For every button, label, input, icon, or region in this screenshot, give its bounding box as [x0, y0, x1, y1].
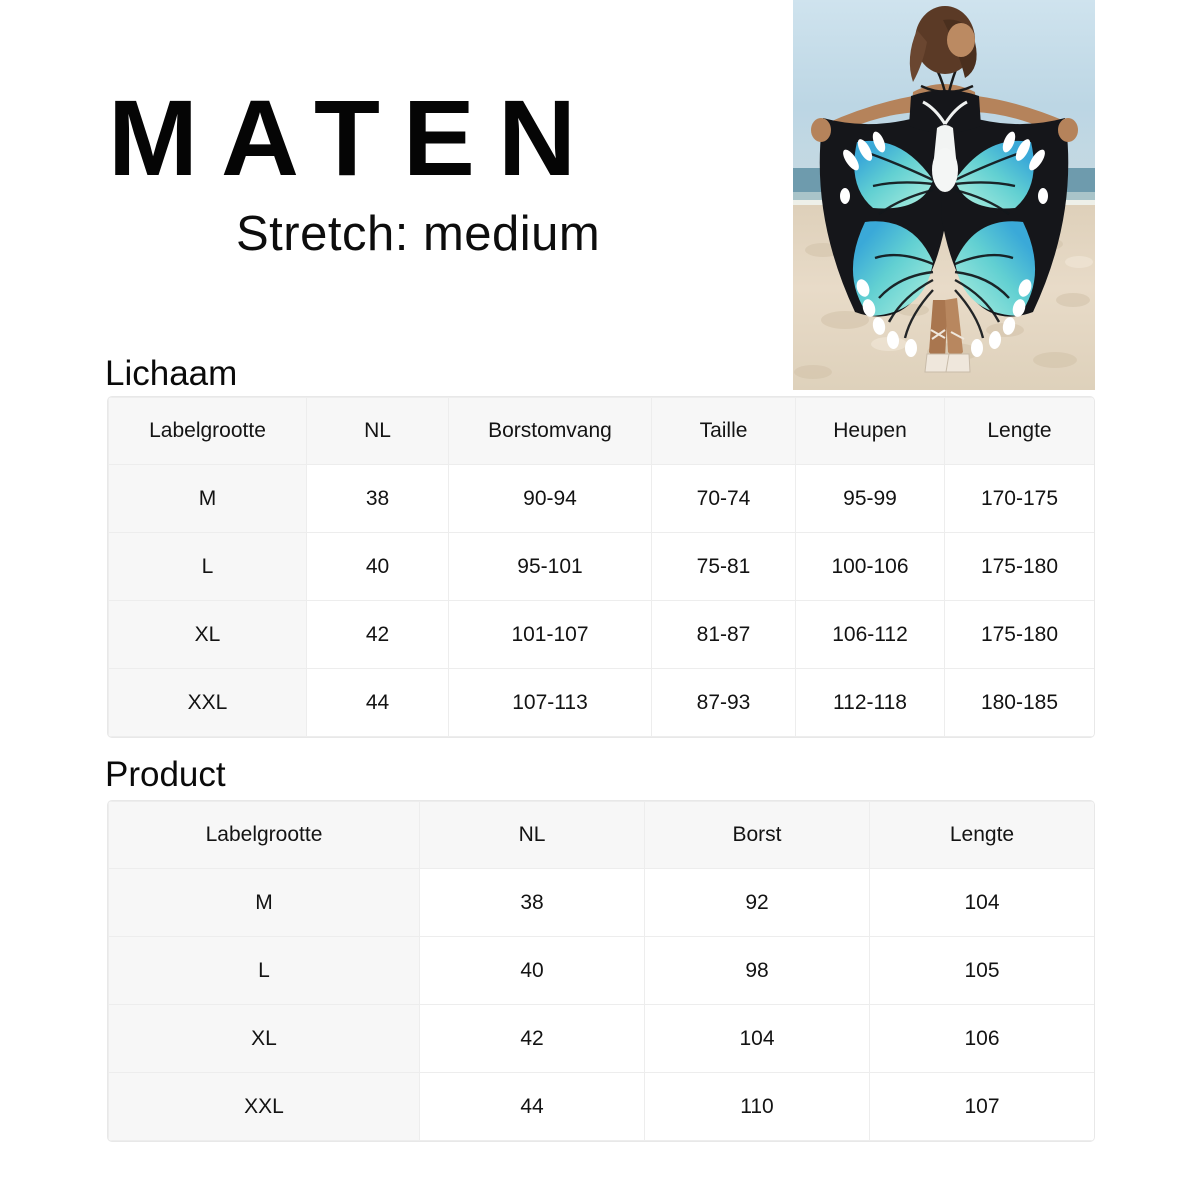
table-header-row: Labelgrootte NL Borst Lengte: [109, 802, 1095, 869]
body-table-head: Labelgrootte NL Borstomvang Taille Heupe…: [109, 398, 1095, 465]
cell-borst: 104: [645, 1005, 870, 1073]
column-header-nl: NL: [420, 802, 645, 869]
table-row: XL 42 101-107 81-87 106-112 175-180: [109, 601, 1095, 669]
cell-size-label: XXL: [109, 1073, 420, 1141]
body-size-table-wrapper: Labelgrootte NL Borstomvang Taille Heupe…: [107, 396, 1095, 738]
cell-taille: 87-93: [652, 669, 796, 737]
column-header-borst: Borst: [645, 802, 870, 869]
table-row: XL 42 104 106: [109, 1005, 1095, 1073]
cell-lengte: 180-185: [945, 669, 1095, 737]
cell-heupen: 106-112: [796, 601, 945, 669]
cell-borstomvang: 107-113: [449, 669, 652, 737]
product-size-table-wrapper: Labelgrootte NL Borst Lengte M 38 92 104…: [107, 800, 1095, 1142]
cell-size-label: L: [109, 937, 420, 1005]
cell-nl: 44: [307, 669, 449, 737]
cell-size-label: L: [109, 533, 307, 601]
cell-lengte: 107: [870, 1073, 1095, 1141]
cell-borstomvang: 95-101: [449, 533, 652, 601]
cell-nl: 40: [307, 533, 449, 601]
body-size-table: Labelgrootte NL Borstomvang Taille Heupe…: [108, 397, 1095, 737]
cell-nl: 44: [420, 1073, 645, 1141]
cell-size-label: M: [109, 465, 307, 533]
cell-taille: 81-87: [652, 601, 796, 669]
stretch-subtitle: Stretch: medium: [236, 208, 600, 262]
cell-lengte: 175-180: [945, 533, 1095, 601]
column-header-lengte: Lengte: [870, 802, 1095, 869]
column-header-labelgrootte: Labelgrootte: [109, 398, 307, 465]
cell-lengte: 104: [870, 869, 1095, 937]
section-heading-product: Product: [105, 757, 226, 792]
cell-borst: 92: [645, 869, 870, 937]
cell-nl: 40: [420, 937, 645, 1005]
cell-heupen: 112-118: [796, 669, 945, 737]
cell-taille: 70-74: [652, 465, 796, 533]
table-row: XXL 44 110 107: [109, 1073, 1095, 1141]
table-row: M 38 90-94 70-74 95-99 170-175: [109, 465, 1095, 533]
body-table-body: M 38 90-94 70-74 95-99 170-175 L 40 95-1…: [109, 465, 1095, 737]
section-heading-body: Lichaam: [105, 356, 237, 391]
header-block: MATEN Stretch: medium: [0, 0, 790, 330]
cell-nl: 42: [420, 1005, 645, 1073]
cell-borst: 110: [645, 1073, 870, 1141]
cell-borstomvang: 101-107: [449, 601, 652, 669]
cell-heupen: 95-99: [796, 465, 945, 533]
butterfly-coverup-illustration: [793, 0, 1095, 390]
table-row: L 40 95-101 75-81 100-106 175-180: [109, 533, 1095, 601]
cell-nl: 38: [420, 869, 645, 937]
cell-size-label: XXL: [109, 669, 307, 737]
cell-nl: 42: [307, 601, 449, 669]
product-photo: [793, 0, 1095, 390]
product-size-table: Labelgrootte NL Borst Lengte M 38 92 104…: [108, 801, 1095, 1141]
column-header-heupen: Heupen: [796, 398, 945, 465]
table-row: L 40 98 105: [109, 937, 1095, 1005]
cell-lengte: 175-180: [945, 601, 1095, 669]
cell-lengte: 106: [870, 1005, 1095, 1073]
column-header-nl: NL: [307, 398, 449, 465]
table-row: XXL 44 107-113 87-93 112-118 180-185: [109, 669, 1095, 737]
cell-size-label: XL: [109, 601, 307, 669]
table-row: M 38 92 104: [109, 869, 1095, 937]
cell-borstomvang: 90-94: [449, 465, 652, 533]
page-title: MATEN: [108, 84, 599, 192]
column-header-taille: Taille: [652, 398, 796, 465]
cell-lengte: 170-175: [945, 465, 1095, 533]
product-table-head: Labelgrootte NL Borst Lengte: [109, 802, 1095, 869]
cell-size-label: M: [109, 869, 420, 937]
cell-taille: 75-81: [652, 533, 796, 601]
cell-nl: 38: [307, 465, 449, 533]
cell-size-label: XL: [109, 1005, 420, 1073]
cell-lengte: 105: [870, 937, 1095, 1005]
column-header-borstomvang: Borstomvang: [449, 398, 652, 465]
cell-borst: 98: [645, 937, 870, 1005]
column-header-labelgrootte: Labelgrootte: [109, 802, 420, 869]
table-header-row: Labelgrootte NL Borstomvang Taille Heupe…: [109, 398, 1095, 465]
column-header-lengte: Lengte: [945, 398, 1095, 465]
cell-heupen: 100-106: [796, 533, 945, 601]
product-table-body: M 38 92 104 L 40 98 105 XL 42 104 106 XX…: [109, 869, 1095, 1141]
